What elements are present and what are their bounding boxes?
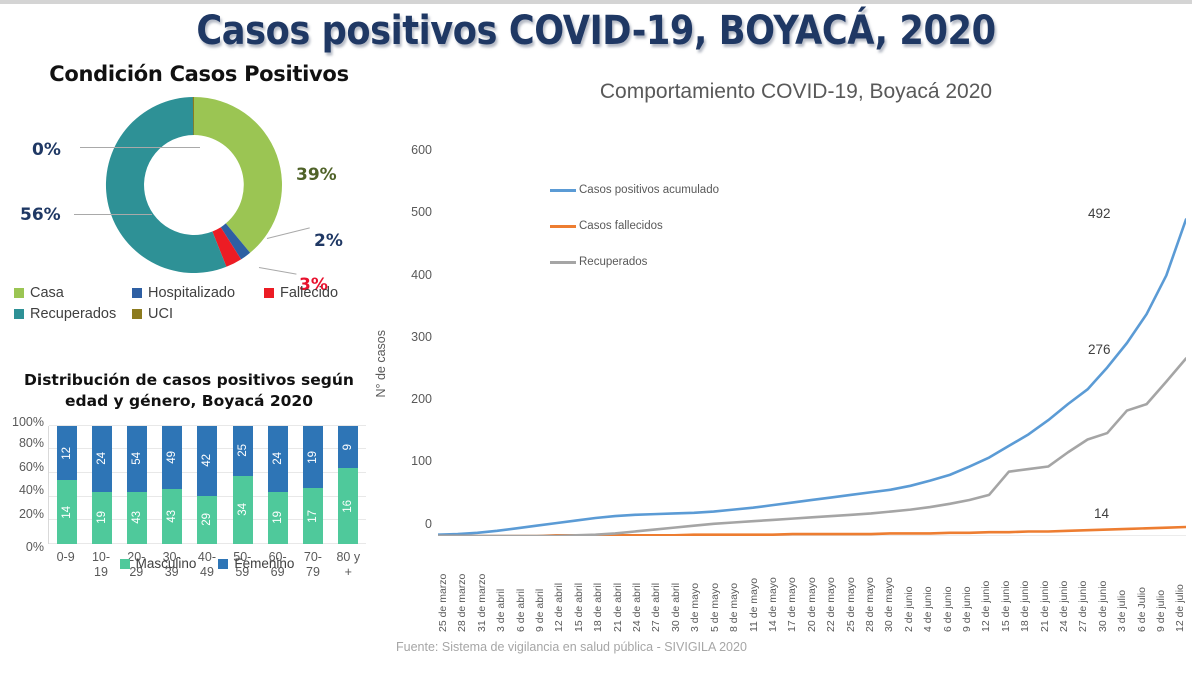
bar-value-femenino: 49 [166,451,178,464]
bar-segment-masculino[interactable]: 17 [303,488,323,544]
bar-value-femenino: 54 [131,452,143,465]
bar-value-masculino: 14 [61,506,73,519]
bar-value-masculino: 43 [166,510,178,523]
line-y-tick: 400 [411,268,432,281]
bar-segment-femenino[interactable]: 24 [92,426,112,492]
donut-leader-recuperados [74,214,152,215]
line-y-tick: 300 [411,331,432,344]
bar-column[interactable]: 4229 [197,426,217,544]
bar-value-femenino: 12 [61,447,73,460]
donut-label-uci: 0% [32,140,61,160]
line-end-label-recuperados: 276 [1088,342,1111,357]
line-x-tick: 6 de junio [943,542,954,632]
line-chart-svg [438,150,1186,536]
legend-item-hospitalizado[interactable]: Hospitalizado [132,285,264,301]
bar-segment-femenino[interactable]: 19 [303,426,323,488]
bar-value-femenino: 9 [342,444,354,450]
bar-column[interactable]: 4943 [162,426,182,544]
donut-label-hospitalizado: 2% [314,231,343,251]
legend-swatch-hospitalizado [132,288,142,298]
legend-swatch-recuperados [14,309,24,319]
bar-y-tick: 40% [19,484,44,497]
bar-value-femenino: 25 [237,444,249,457]
bar-segment-masculino[interactable]: 43 [127,492,147,544]
line-x-tick: 15 de abril [574,542,585,632]
bar-legend-label-femenino: Femenino [234,556,294,571]
page-title: Casos positivos COVID-19, BOYACÁ, 2020 [72,8,1121,54]
bar-y-tick: 60% [19,461,44,474]
line-series-fallecidos[interactable] [438,527,1186,536]
legend-item-uci[interactable]: UCI [132,306,264,322]
bar-chart-title: Distribución de casos positivos según ed… [14,370,364,412]
bar-y-tick: 80% [19,437,44,450]
bar-chart-panel: Distribución de casos positivos según ed… [0,370,378,670]
line-x-tick: 5 de mayo [710,542,721,632]
top-divider [0,0,1192,4]
bar-chart-plot: 100%80%60%40%20%0% 121424195443494342292… [0,420,378,550]
line-x-tick: 15 de junio [1001,542,1012,632]
line-x-tick: 3 de julio [1117,542,1128,632]
bar-y-tick: 0% [26,541,44,554]
bar-value-masculino: 43 [131,511,143,524]
line-x-tick: 12 de junio [981,542,992,632]
bar-segment-masculino[interactable]: 14 [57,480,77,544]
line-y-tick: 100 [411,455,432,468]
bar-y-axis: 100%80%60%40%20%0% [0,420,44,550]
bar-segment-femenino[interactable]: 49 [162,426,182,489]
line-x-tick: 3 de mayo [690,542,701,632]
source-note: Fuente: Sistema de vigilancia en salud p… [396,640,747,654]
bar-value-femenino: 24 [272,452,284,465]
legend-item-fallecido[interactable]: Fallecido [264,285,374,301]
line-x-tick: 30 de mayo [884,542,895,632]
line-x-tick: 12 de abril [554,542,565,632]
bar-segment-femenino[interactable]: 9 [338,426,358,468]
bar-segment-masculino[interactable]: 19 [92,492,112,544]
legend-label-fallecido: Fallecido [280,285,338,301]
bar-plot-area: 12142419544349434229253424191917916 [48,426,366,544]
line-y-axis-label: N° de casos [374,330,388,398]
bar-segment-masculino[interactable]: 43 [162,489,182,544]
donut-leader-uci [80,147,200,148]
bar-column[interactable]: 2419 [268,426,288,544]
donut-chart-title: Condición Casos Positivos [14,62,384,86]
bar-value-masculino: 17 [307,510,319,523]
line-x-tick: 25 de mayo [846,542,857,632]
bar-legend: Masculino Femenino [48,556,366,571]
bar-legend-item-masculino[interactable]: Masculino [120,556,197,571]
bar-legend-item-femenino[interactable]: Femenino [218,556,294,571]
line-x-tick: 14 de mayo [768,542,779,632]
line-x-axis: 25 de marzo28 de marzo31 de marzo3 de ab… [438,542,1186,632]
bar-column[interactable]: 2534 [233,426,253,544]
line-y-axis: 6005004003002001000 [390,150,432,536]
line-y-tick: 500 [411,206,432,219]
donut-label-casa: 39% [296,165,337,185]
line-x-tick: 4 de junio [923,542,934,632]
line-end-label-fallecidos: 14 [1094,506,1109,521]
bar-column[interactable]: 916 [338,426,358,544]
bar-column[interactable]: 1917 [303,426,323,544]
bar-segment-masculino[interactable]: 34 [233,476,253,544]
bar-y-tick: 100% [12,416,44,429]
line-x-tick: 2 de junio [904,542,915,632]
legend-label-uci: UCI [148,306,173,322]
donut-chart-area: 0% 56% 39% 2% 3% [14,90,384,280]
bar-legend-label-masculino: Masculino [136,556,197,571]
line-series-positivos[interactable] [438,219,1186,534]
line-x-tick: 21 de junio [1040,542,1051,632]
line-x-tick: 28 de mayo [865,542,876,632]
legend-label-recuperados: Recuperados [30,306,116,322]
line-x-tick: 9 de abril [535,542,546,632]
legend-swatch-fallecido [264,288,274,298]
bar-y-tick: 20% [19,508,44,521]
bar-segment-femenino[interactable]: 42 [197,426,217,496]
line-plot-area [438,150,1186,536]
legend-label-casa: Casa [30,285,64,301]
line-x-tick: 12 de julio [1175,542,1186,632]
bar-value-masculino: 16 [342,500,354,513]
line-x-tick: 3 de abril [496,542,507,632]
line-x-tick: 25 de marzo [438,542,449,632]
bar-segment-femenino[interactable]: 12 [57,426,77,480]
line-x-tick: 31 de marzo [477,542,488,632]
bar-column[interactable]: 5443 [127,426,147,544]
line-y-tick: 600 [411,144,432,157]
line-chart-title: Comportamiento COVID-19, Boyacá 2020 [382,80,1192,104]
line-x-tick: 22 de mayo [826,542,837,632]
donut-slice-casa[interactable] [194,97,282,253]
bar-value-masculino: 34 [237,503,249,516]
bar-value-masculino: 29 [201,513,213,526]
line-x-tick: 18 de abril [593,542,604,632]
bar-value-femenino: 24 [96,452,108,465]
line-x-tick: 11 de mayo [749,542,760,632]
line-x-tick: 30 de abril [671,542,682,632]
legend-item-recuperados[interactable]: Recuperados [14,306,132,322]
bar-segment-femenino[interactable]: 54 [127,426,147,492]
line-y-tick: 200 [411,393,432,406]
bar-legend-swatch-masculino [120,559,130,569]
line-x-tick: 27 de junio [1078,542,1089,632]
line-x-tick: 21 de abril [613,542,624,632]
line-end-label-positivos: 492 [1088,206,1111,221]
line-x-tick: 24 de junio [1059,542,1070,632]
donut-label-recuperados: 56% [20,205,61,225]
line-x-tick: 28 de marzo [457,542,468,632]
line-chart-panel: Comportamiento COVID-19, Boyacá 2020 N° … [382,80,1192,670]
donut-svg [94,90,294,280]
line-series-recuperados[interactable] [438,358,1186,536]
bar-segment-femenino[interactable]: 24 [268,426,288,492]
line-x-tick: 8 de mayo [729,542,740,632]
bar-legend-swatch-femenino [218,559,228,569]
bar-segment-masculino[interactable]: 19 [268,492,288,544]
bar-value-femenino: 19 [307,451,319,464]
bar-value-masculino: 19 [272,511,284,524]
bar-column[interactable]: 1214 [57,426,77,544]
legend-swatch-uci [132,309,142,319]
legend-item-casa[interactable]: Casa [14,285,132,301]
legend-swatch-casa [14,288,24,298]
line-x-tick: 30 de junio [1098,542,1109,632]
legend-label-hospitalizado: Hospitalizado [148,285,235,301]
bar-value-femenino: 42 [201,454,213,467]
line-x-tick: 6 de abril [516,542,527,632]
bar-segment-masculino[interactable]: 29 [197,496,217,544]
bar-segment-masculino[interactable]: 16 [338,468,358,544]
line-x-tick: 27 de abril [651,542,662,632]
line-x-tick: 9 de julio [1156,542,1167,632]
line-x-tick: 6 de Julio [1137,542,1148,632]
line-x-tick: 18 de junio [1020,542,1031,632]
bar-value-masculino: 19 [96,511,108,524]
line-x-tick: 9 de junio [962,542,973,632]
bar-column[interactable]: 2419 [92,426,112,544]
line-y-tick: 0 [425,517,432,530]
donut-legend: Casa Hospitalizado Fallecido Recuperados… [14,285,374,322]
line-x-tick: 17 de mayo [787,542,798,632]
line-x-tick: 20 de mayo [807,542,818,632]
bar-segment-femenino[interactable]: 25 [233,426,253,476]
line-x-tick: 24 de abril [632,542,643,632]
